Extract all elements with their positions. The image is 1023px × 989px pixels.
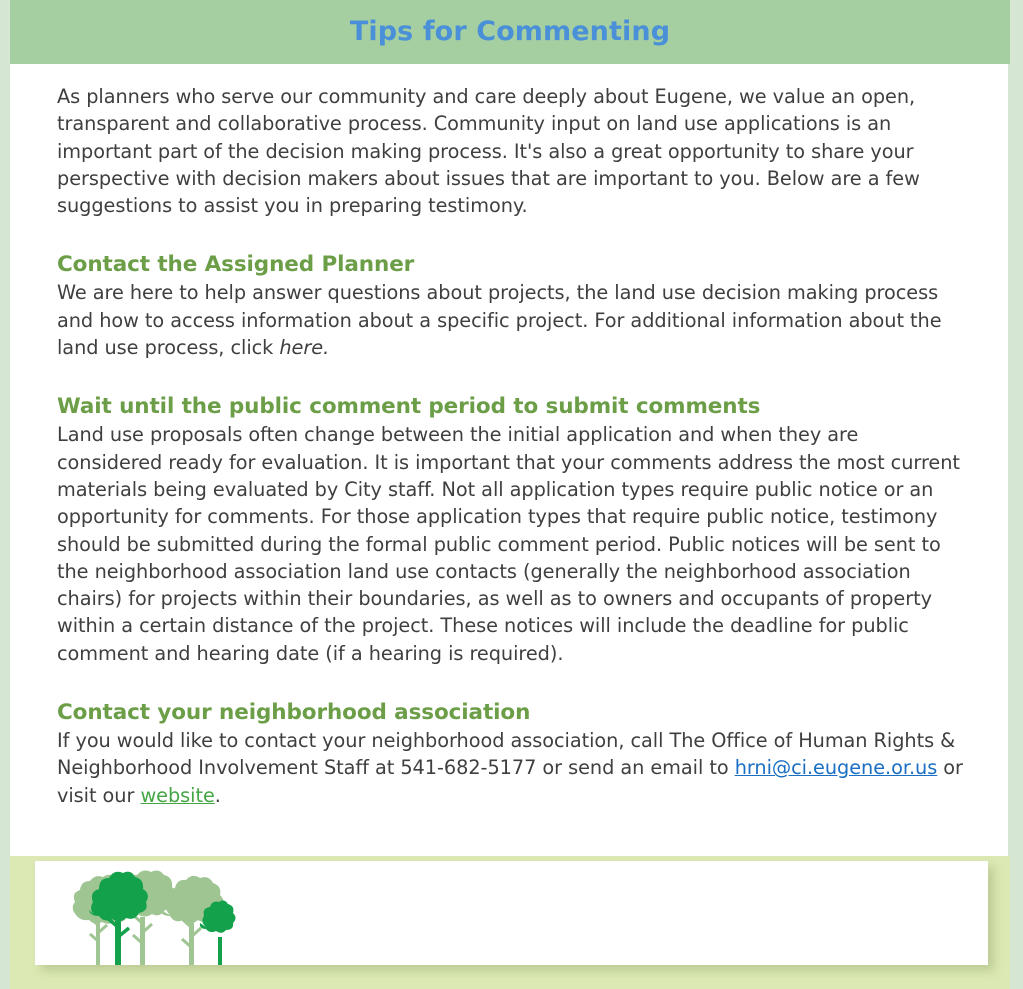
spacer	[57, 667, 967, 699]
email-newsletter-page: Tips for Commenting As planners who serv…	[0, 0, 1023, 989]
website-link[interactable]: website	[140, 784, 214, 807]
section-heading-wait-comment-period: Wait until the public comment period to …	[57, 393, 967, 421]
email-link[interactable]: hrni@ci.eugene.or.us	[735, 756, 938, 779]
page-title: Tips for Commenting	[10, 0, 1010, 64]
header-banner: Tips for Commenting	[10, 0, 1010, 64]
section-body-contact-planner: We are here to help answer questions abo…	[57, 279, 967, 361]
main-content-card: As planners who serve our community and …	[10, 64, 1008, 856]
section-body-neighborhood-association: If you would like to contact your neighb…	[57, 727, 967, 809]
trees-illustration-icon	[58, 863, 258, 965]
intro-paragraph: As planners who serve our community and …	[57, 83, 967, 219]
section-heading-neighborhood-association: Contact your neighborhood association	[57, 699, 967, 727]
footer-card	[35, 861, 988, 965]
neighborhood-text-part3: .	[215, 784, 221, 807]
section-body-wait-comment-period: Land use proposals often change between …	[57, 421, 967, 667]
contact-planner-text: We are here to help answer questions abo…	[57, 281, 942, 359]
spacer	[57, 361, 967, 393]
here-link[interactable]: here.	[279, 336, 329, 359]
footer-banner	[10, 856, 1010, 989]
content-inner: As planners who serve our community and …	[57, 83, 967, 809]
spacer	[57, 219, 967, 251]
section-heading-contact-planner: Contact the Assigned Planner	[57, 251, 967, 279]
